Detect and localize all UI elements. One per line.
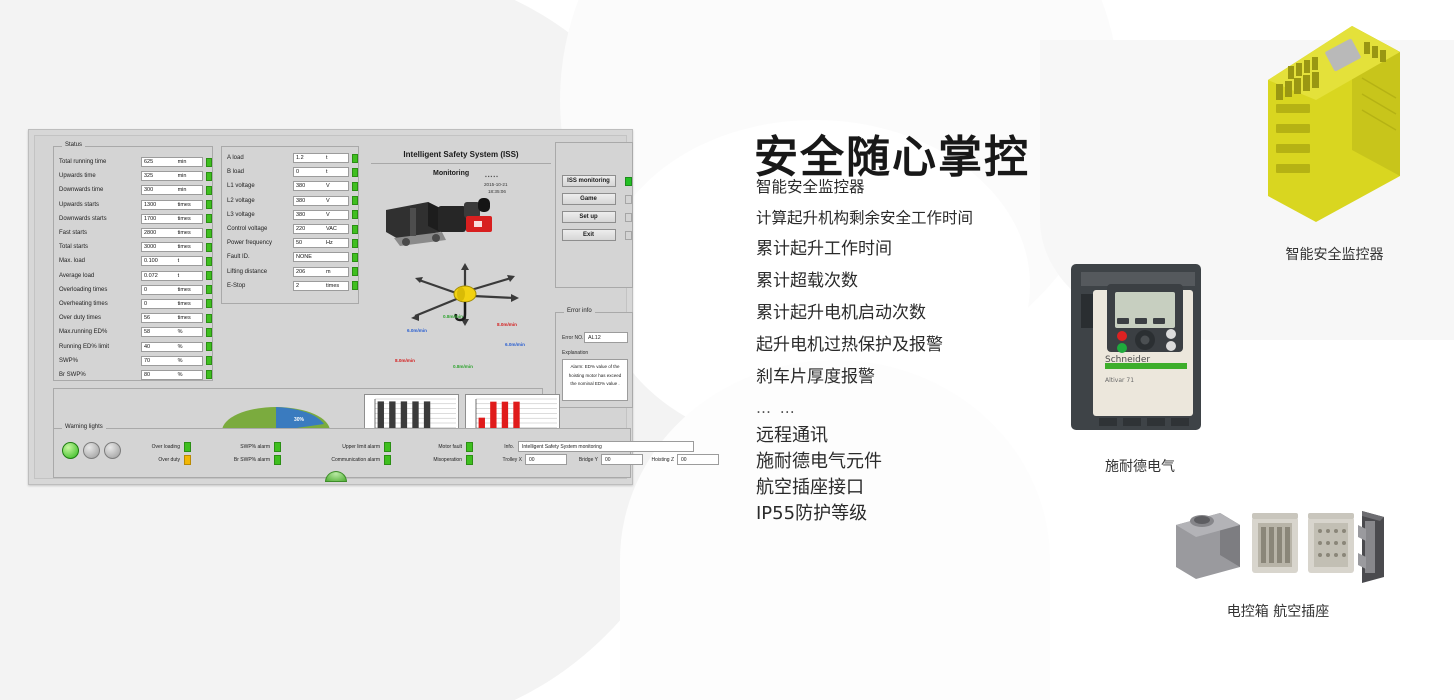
warning-item-led bbox=[384, 455, 391, 465]
info-line: Info. Intelligent Safety System monitori… bbox=[494, 440, 719, 453]
status-value: 70 bbox=[144, 358, 178, 364]
iss-title: Intelligent Safety System (ISS) bbox=[371, 150, 551, 159]
status-row: Max.running ED%58% bbox=[54, 325, 212, 339]
status-label: Max. load bbox=[59, 258, 125, 264]
warning-item: Communication alarm bbox=[302, 453, 391, 466]
measurement-row: E-Stop2times bbox=[222, 279, 358, 293]
status-unit: % bbox=[178, 372, 200, 378]
status-status-led bbox=[206, 299, 212, 308]
axis-label-hoisting-z: Hoisting Z bbox=[646, 457, 674, 463]
status-value: 625 bbox=[144, 159, 178, 165]
warning-lamps bbox=[62, 442, 121, 459]
speed-label-downleft: 8.0m/min bbox=[395, 358, 415, 363]
status-status-led bbox=[206, 186, 212, 195]
status-row: Downwards time300min bbox=[54, 183, 212, 197]
measurement-label: Lifting distance bbox=[227, 269, 280, 275]
measurement-label: Power frequency bbox=[227, 240, 280, 246]
measurement-value-field[interactable]: 206m bbox=[293, 267, 349, 277]
measurement-row: Lifting distance206m bbox=[222, 265, 358, 279]
measurement-unit: V bbox=[326, 198, 346, 204]
control-buttons: ISS monitoringGameSet upExit bbox=[556, 143, 632, 241]
measurement-label: Control voltage bbox=[227, 226, 280, 232]
measurement-row: L2 voltage380V bbox=[222, 194, 358, 208]
status-status-led bbox=[206, 243, 212, 252]
measurement-label: L1 voltage bbox=[227, 183, 280, 189]
info-label: Info. bbox=[494, 444, 514, 450]
measurement-value: 50 bbox=[296, 240, 326, 246]
status-rows: Total running time625minUpwards time325m… bbox=[54, 147, 212, 382]
product-caption-relay: 智能安全监控器 bbox=[1232, 244, 1437, 264]
status-value: 325 bbox=[144, 173, 178, 179]
measurement-status-led bbox=[352, 239, 358, 248]
status-value-field[interactable]: 300min bbox=[141, 185, 203, 195]
warning-item-led bbox=[274, 442, 281, 452]
measurement-unit: V bbox=[326, 212, 346, 218]
measurement-value: NONE bbox=[296, 254, 326, 260]
measurement-status-led bbox=[352, 154, 358, 163]
warning-item: Br SWP% alarm bbox=[204, 453, 281, 466]
button-led bbox=[625, 231, 632, 240]
status-label: Downwards time bbox=[59, 187, 125, 193]
status-value-field[interactable]: 1700times bbox=[141, 214, 203, 224]
feature-item-7: 刹车片厚度报警 bbox=[756, 369, 1086, 386]
status-status-led bbox=[206, 229, 212, 238]
monitoring-date: 2015-10-21 bbox=[484, 182, 508, 187]
warning-item-label: Over loading bbox=[124, 444, 180, 450]
status-row: Br SWP%80% bbox=[54, 368, 212, 382]
measurement-unit: V bbox=[326, 183, 346, 189]
status-value: 40 bbox=[144, 344, 178, 350]
measurement-status-led bbox=[352, 182, 358, 191]
iss-title-underline bbox=[371, 163, 551, 164]
warning-item: SWP% alarm bbox=[204, 440, 281, 453]
axis-fields: Trolley X00Bridge Y00Hoisting Z00 bbox=[494, 453, 719, 466]
axis-field-bridge-y[interactable]: 00 bbox=[601, 454, 643, 465]
axis-label-bridge-y: Bridge Y bbox=[570, 457, 598, 463]
connectors-image bbox=[1168, 495, 1388, 590]
info-area: Info. Intelligent Safety System monitori… bbox=[494, 440, 719, 466]
status-label: Total running time bbox=[59, 159, 125, 165]
measurement-label: B load bbox=[227, 169, 280, 175]
measurement-group: A load1.2tB load0tL1 voltage380VL2 volta… bbox=[221, 146, 359, 304]
status-row: SWP%70% bbox=[54, 354, 212, 368]
hook-direction-diagram bbox=[375, 258, 555, 333]
status-unit: times bbox=[178, 287, 200, 293]
status-value: 0.072 bbox=[144, 273, 178, 279]
status-unit: times bbox=[178, 315, 200, 321]
status-label: Upwards time bbox=[59, 173, 125, 179]
status-status-led bbox=[206, 158, 212, 167]
status-value-field[interactable]: 1300times bbox=[141, 200, 203, 210]
warning-column-2: SWP% alarmBr SWP% alarm bbox=[204, 440, 281, 466]
status-status-led bbox=[206, 271, 212, 280]
feature-item-4: 累计超载次数 bbox=[756, 273, 1086, 290]
feature-item-9: 远程通讯 bbox=[756, 427, 1086, 445]
measurement-rows: A load1.2tB load0tL1 voltage380VL2 volta… bbox=[222, 147, 358, 293]
speed-label-left: 6.0m/min bbox=[407, 328, 427, 333]
status-value-field[interactable]: 40% bbox=[141, 342, 203, 352]
status-label: Downwards starts bbox=[59, 216, 125, 222]
status-unit: times bbox=[178, 216, 200, 222]
feature-item-3: 累计起升工作时间 bbox=[756, 241, 1086, 258]
status-value-field[interactable]: 325min bbox=[141, 171, 203, 181]
warning-item-label: Motor fault bbox=[414, 444, 462, 450]
status-value-field[interactable]: 0times bbox=[141, 285, 203, 295]
explanation-label: Explanation bbox=[562, 350, 588, 356]
axis-field-trolley-x[interactable]: 00 bbox=[525, 454, 567, 465]
measurement-unit: m bbox=[326, 269, 346, 275]
control-button-row: Exit bbox=[556, 229, 632, 241]
control-buttons-group: ISS monitoringGameSet upExit bbox=[555, 142, 633, 288]
warning-item-label: Communication alarm bbox=[302, 457, 380, 463]
measurement-unit: Hz bbox=[326, 240, 346, 246]
status-unit: min bbox=[178, 173, 200, 179]
warning-item-label: SWP% alarm bbox=[204, 444, 270, 450]
hmi-inner-frame: Status Total running time625minUpwards t… bbox=[34, 135, 627, 479]
status-value: 80 bbox=[144, 372, 178, 378]
product-caption-vfd: 施耐德电气 bbox=[1055, 456, 1225, 476]
measurement-value-field[interactable]: 2times bbox=[293, 281, 349, 291]
feature-list: 智能安全监控器计算起升机构剩余安全工作时间累计起升工作时间累计超载次数累计起升电… bbox=[756, 180, 1086, 531]
status-label: Total starts bbox=[59, 244, 125, 250]
product-connectors: 电控箱 航空插座 bbox=[1168, 495, 1388, 621]
button-exit[interactable]: Exit bbox=[562, 229, 616, 241]
warning-item-led bbox=[184, 455, 191, 465]
axis-field-hoisting-z[interactable]: 00 bbox=[677, 454, 719, 465]
measurement-row: A load1.2t bbox=[222, 151, 358, 165]
status-unit: times bbox=[178, 202, 200, 208]
measurement-label: A load bbox=[227, 155, 280, 161]
monitoring-label: Monitoring bbox=[433, 170, 469, 177]
status-status-led bbox=[206, 342, 212, 351]
status-row: Overloading times0times bbox=[54, 283, 212, 297]
measurement-row: L1 voltage380V bbox=[222, 179, 358, 193]
speed-label-down: 0.8m/min bbox=[453, 364, 473, 369]
status-unit: % bbox=[178, 358, 200, 364]
speed-label-upright: 8.0m/min bbox=[497, 322, 517, 327]
status-unit: min bbox=[178, 187, 200, 193]
measurement-status-led bbox=[352, 210, 358, 219]
status-value: 0 bbox=[144, 287, 178, 293]
warning-lamp-2 bbox=[83, 442, 100, 459]
status-value: 300 bbox=[144, 187, 178, 193]
status-row: Upwards starts1300times bbox=[54, 198, 212, 212]
warning-column-4: Motor faultMisoperation bbox=[414, 440, 473, 466]
measurement-label: L3 voltage bbox=[227, 212, 280, 218]
status-label: Upwards starts bbox=[59, 202, 125, 208]
measurement-value-field[interactable]: 380V bbox=[293, 210, 349, 220]
warning-lamp-3 bbox=[104, 442, 121, 459]
status-value-field[interactable]: 625min bbox=[141, 157, 203, 167]
measurement-value: 1.2 bbox=[296, 155, 326, 161]
status-unit: times bbox=[178, 301, 200, 307]
status-label: Average load bbox=[59, 273, 125, 279]
monitoring-progress-dots: ▪▪▪▪▪ bbox=[485, 174, 499, 180]
measurement-status-led bbox=[352, 196, 358, 205]
explanation-text: Alarm: ED% value of the hoisting motor h… bbox=[562, 359, 628, 401]
status-unit: t bbox=[178, 273, 200, 279]
status-status-led bbox=[206, 214, 212, 223]
status-value: 58 bbox=[144, 329, 178, 335]
measurement-value: 380 bbox=[296, 183, 326, 189]
status-value: 3000 bbox=[144, 244, 178, 250]
measurement-row: Power frequency50Hz bbox=[222, 236, 358, 250]
measurement-label: L2 voltage bbox=[227, 198, 280, 204]
measurement-value: 2 bbox=[296, 283, 326, 289]
status-value: 0 bbox=[144, 301, 178, 307]
warning-item-led bbox=[466, 455, 473, 465]
status-label: Over duty times bbox=[59, 315, 125, 321]
status-status-led bbox=[206, 257, 212, 266]
warning-column-3: Upper limit alarmCommunication alarm bbox=[302, 440, 391, 466]
measurement-row: B load0t bbox=[222, 165, 358, 179]
feature-item-11: 航空插座接口 bbox=[756, 479, 1086, 497]
button-game[interactable]: Game bbox=[562, 193, 616, 205]
svg-text:Altivar 71: Altivar 71 bbox=[1105, 377, 1134, 384]
control-button-row: ISS monitoring bbox=[556, 175, 632, 187]
status-row: Max. load0.100t bbox=[54, 254, 212, 268]
warning-lamp-1 bbox=[62, 442, 79, 459]
feature-item-5: 累计起升电机启动次数 bbox=[756, 305, 1086, 322]
error-no-label: Error NO. bbox=[562, 335, 583, 341]
status-unit: min bbox=[178, 159, 200, 165]
feature-item-10: 施耐德电气元件 bbox=[756, 453, 1086, 471]
feature-item-2: 计算起升机构剩余安全工作时间 bbox=[756, 211, 1086, 227]
status-value: 1300 bbox=[144, 202, 178, 208]
schneider-vfd-image: Schneider Altivar 71 bbox=[1055, 250, 1225, 445]
measurement-value-field[interactable]: 380V bbox=[293, 196, 349, 206]
status-value: 2800 bbox=[144, 230, 178, 236]
measurement-value: 380 bbox=[296, 212, 326, 218]
status-unit: times bbox=[178, 230, 200, 236]
measurement-value-field[interactable]: 50Hz bbox=[293, 238, 349, 248]
measurement-value: 206 bbox=[296, 269, 326, 275]
control-button-row: Game bbox=[556, 193, 632, 205]
status-unit: % bbox=[178, 329, 200, 335]
warning-item-led bbox=[466, 442, 473, 452]
measurement-value: 0 bbox=[296, 169, 326, 175]
warning-item: Motor fault bbox=[414, 440, 473, 453]
status-status-led bbox=[206, 370, 212, 379]
warning-item-label: Br SWP% alarm bbox=[204, 457, 270, 463]
measurement-value: 220 bbox=[296, 226, 326, 232]
measurement-unit: VAC bbox=[326, 226, 346, 232]
status-status-led bbox=[206, 285, 212, 294]
status-label: Running ED% limit bbox=[59, 344, 125, 350]
status-value-field[interactable]: 3000times bbox=[141, 242, 203, 252]
status-value: 0.100 bbox=[144, 258, 178, 264]
warning-column-1: Over loadingOver duty bbox=[124, 440, 191, 466]
warning-item: Upper limit alarm bbox=[302, 440, 391, 453]
status-status-led bbox=[206, 356, 212, 365]
warning-item-label: Misoperation bbox=[414, 457, 462, 463]
product-schneider-vfd: Schneider Altivar 71 施耐德电气 bbox=[1055, 250, 1225, 476]
feature-item-6: 起升电机过热保护及报警 bbox=[756, 337, 1086, 354]
measurement-label: Fault ID. bbox=[227, 254, 280, 260]
warning-lights-group: Warning lights Over loadingOver duty SWP… bbox=[53, 428, 631, 478]
status-row: Running ED% limit40% bbox=[54, 339, 212, 353]
status-row: Overheating times0times bbox=[54, 297, 212, 311]
status-value: 1700 bbox=[144, 216, 178, 222]
button-set-up[interactable]: Set up bbox=[562, 211, 616, 223]
button-led bbox=[625, 195, 632, 204]
measurement-row: Control voltage220VAC bbox=[222, 222, 358, 236]
status-value-field[interactable]: 80% bbox=[141, 370, 203, 380]
status-value-field[interactable]: 58% bbox=[141, 327, 203, 337]
status-row: Upwards time325min bbox=[54, 169, 212, 183]
hmi-panel: Status Total running time625minUpwards t… bbox=[28, 129, 633, 485]
product-caption-connectors: 电控箱 航空插座 bbox=[1168, 601, 1388, 621]
status-status-led bbox=[206, 172, 212, 181]
measurement-value-field[interactable]: 380V bbox=[293, 181, 349, 191]
control-button-row: Set up bbox=[556, 211, 632, 223]
status-value-field[interactable]: 0times bbox=[141, 299, 203, 309]
measurement-unit: t bbox=[326, 169, 346, 175]
pie-slice-label-2: 30% bbox=[294, 417, 304, 423]
status-row: Total running time625min bbox=[54, 155, 212, 169]
axis-label-trolley-x: Trolley X bbox=[494, 457, 522, 463]
measurement-value-field[interactable]: 1.2t bbox=[293, 153, 349, 163]
status-label: Max.running ED% bbox=[59, 329, 125, 335]
status-label: Br SWP% bbox=[59, 372, 125, 378]
status-unit: % bbox=[178, 344, 200, 350]
warning-item-label: Over duty bbox=[124, 457, 180, 463]
status-row: Downwards starts1700times bbox=[54, 212, 212, 226]
product-safety-relay: 智能安全监控器 bbox=[1232, 8, 1437, 264]
button-led bbox=[625, 213, 632, 222]
status-row: Over duty times56times bbox=[54, 311, 212, 325]
status-value: 56 bbox=[144, 315, 178, 321]
status-value-field[interactable]: 0.072t bbox=[141, 271, 203, 281]
page-headline: 安全随心掌控 bbox=[754, 121, 1030, 185]
measurement-status-led bbox=[352, 281, 358, 290]
status-value-field[interactable]: 70% bbox=[141, 356, 203, 366]
measurement-value-field[interactable]: 0t bbox=[293, 167, 349, 177]
safety-relay-image bbox=[1232, 8, 1437, 233]
measurement-value: 380 bbox=[296, 198, 326, 204]
status-label: Overloading times bbox=[59, 287, 125, 293]
status-group-title: Status bbox=[62, 142, 85, 148]
speed-label-up: 0.8m/min bbox=[443, 314, 463, 319]
measurement-value-field[interactable]: 220VAC bbox=[293, 224, 349, 234]
warning-item: Over duty bbox=[124, 453, 191, 466]
status-label: SWP% bbox=[59, 358, 125, 364]
warning-item-led bbox=[384, 442, 391, 452]
status-status-led bbox=[206, 314, 212, 323]
warning-item-led bbox=[274, 455, 281, 465]
error-no-field[interactable]: AL12 bbox=[584, 332, 628, 343]
warning-item-label: Upper limit alarm bbox=[302, 444, 380, 450]
measurement-unit: times bbox=[326, 283, 346, 289]
warning-item: Misoperation bbox=[414, 453, 473, 466]
button-iss-monitoring[interactable]: ISS monitoring bbox=[562, 175, 616, 187]
status-row: Total starts3000times bbox=[54, 240, 212, 254]
error-info-group: Error info Error NO. AL12 Explanation Al… bbox=[555, 312, 633, 408]
status-value-field[interactable]: 56times bbox=[141, 313, 203, 323]
speed-label-right: 6.0m/min bbox=[505, 342, 525, 347]
error-info-title: Error info bbox=[564, 308, 595, 314]
measurement-status-led bbox=[352, 168, 358, 177]
status-label: Overheating times bbox=[59, 301, 125, 307]
status-status-led bbox=[206, 200, 212, 209]
status-row: Fast starts2800times bbox=[54, 226, 212, 240]
hoist-illustration bbox=[380, 192, 510, 262]
status-unit: times bbox=[178, 244, 200, 250]
status-unit: t bbox=[178, 258, 200, 264]
feature-item-1: 智能安全监控器 bbox=[756, 180, 1086, 196]
measurement-status-led bbox=[352, 267, 358, 276]
measurement-status-led bbox=[352, 225, 358, 234]
warning-lights-title: Warning lights bbox=[62, 424, 106, 430]
measurement-row: Fault ID.NONE bbox=[222, 250, 358, 264]
status-status-led bbox=[206, 328, 212, 337]
status-label: Fast starts bbox=[59, 230, 125, 236]
button-led bbox=[625, 177, 632, 186]
feature-item-8: … … bbox=[756, 401, 1086, 416]
measurement-unit: t bbox=[326, 155, 346, 161]
measurement-status-led bbox=[352, 253, 358, 262]
feature-item-12: IP55防护等级 bbox=[756, 505, 1086, 523]
measurement-value-field[interactable]: NONE bbox=[293, 252, 349, 262]
status-group: Status Total running time625minUpwards t… bbox=[53, 146, 213, 381]
measurement-label: E-Stop bbox=[227, 283, 280, 289]
warning-item: Over loading bbox=[124, 440, 191, 453]
status-row: Average load0.072t bbox=[54, 269, 212, 283]
warning-item-led bbox=[184, 442, 191, 452]
info-field[interactable]: Intelligent Safety System monitoring bbox=[518, 441, 694, 452]
status-value-field[interactable]: 0.100t bbox=[141, 256, 203, 266]
svg-text:Schneider: Schneider bbox=[1105, 355, 1150, 365]
status-value-field[interactable]: 2800times bbox=[141, 228, 203, 238]
measurement-row: L3 voltage380V bbox=[222, 208, 358, 222]
